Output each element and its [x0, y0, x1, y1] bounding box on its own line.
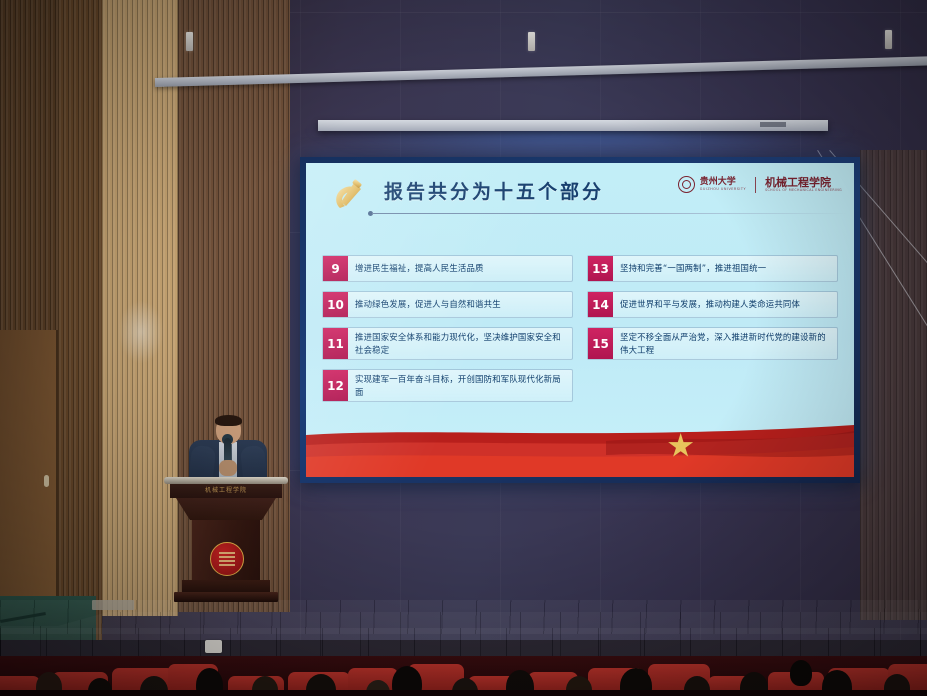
item-text: 增进民生福祉，提高人民生活品质: [348, 256, 572, 281]
podium-edge: [164, 477, 288, 484]
party-hammer-sickle-emblem: [330, 177, 370, 213]
item-text: 坚持和完善“一国两制”，推进祖国统一: [613, 256, 837, 281]
presentation-slide: 报告共分为十五个部分 贵州大学 GUIZHOU UNIVERSITY 机械工程学…: [306, 163, 854, 477]
wall-mounted-fixture: [528, 32, 535, 51]
floor-equipment: [92, 600, 134, 610]
projection-screen: 报告共分为十五个部分 贵州大学 GUIZHOU UNIVERSITY 机械工程学…: [300, 157, 860, 483]
audience-head: [790, 660, 812, 686]
item-number-badge: 15: [588, 328, 613, 359]
wood-slat-wall: [860, 150, 927, 620]
slide-item: 11推进国家安全体系和能力现代化，坚决维护国家安全和社会稳定: [322, 327, 573, 360]
wall-mounted-fixture: [885, 30, 892, 49]
item-text: 推动绿色发展，促进人与自然和谐共生: [348, 292, 572, 317]
university-name-en: GUIZHOU UNIVERSITY: [700, 187, 746, 191]
item-number-badge: 10: [323, 292, 348, 317]
red-ribbon-banner: [306, 411, 854, 477]
podium-red-seal-icon: [210, 542, 244, 576]
valance-label: [760, 122, 786, 127]
podium-name-plate: 机械工程学院: [184, 484, 268, 494]
slide-item: 14促进世界和平与发展，推动构建人类命运共同体: [587, 291, 838, 318]
university-seal-icon: [678, 176, 695, 193]
item-number-badge: 12: [323, 370, 348, 401]
podium: 机械工程学院: [170, 482, 282, 604]
slide-item: 9增进民生福祉，提高人民生活品质: [322, 255, 573, 282]
item-text: 实现建军一百年奋斗目标，开创国防和军队现代化新局面: [348, 370, 572, 401]
item-number-badge: 9: [323, 256, 348, 281]
podium-plinth: [174, 592, 278, 602]
slide-content: 9增进民生福祉，提高人民生活品质10推动绿色发展，促进人与自然和谐共生11推进国…: [306, 255, 854, 402]
university-name-cn: 贵州大学: [700, 178, 746, 187]
podium-body: [176, 498, 276, 520]
item-text: 推进国家安全体系和能力现代化，坚决维护国家安全和社会稳定: [348, 328, 572, 359]
door-handle-icon[interactable]: [44, 475, 49, 487]
item-number-badge: 11: [323, 328, 348, 359]
auditorium-photo: 报告共分为十五个部分 贵州大学 GUIZHOU UNIVERSITY 机械工程学…: [0, 0, 927, 696]
foreground-shadow: [0, 690, 927, 696]
wall-scuff-mark: [118, 300, 164, 364]
item-number-badge: 14: [588, 292, 613, 317]
title-rule: [372, 213, 848, 214]
side-door[interactable]: [0, 330, 58, 620]
presenter-hands: [219, 460, 237, 476]
slide-item: 12实现建军一百年奋斗目标，开创国防和军队现代化新局面: [322, 369, 573, 402]
college-name-en: SCHOOL OF MECHANICAL ENGINEERING: [765, 188, 842, 192]
slide-item: 15坚定不移全面从严治党，深入推进新时代党的建设新的伟大工程: [587, 327, 838, 360]
college-name-cn: 机械工程学院: [765, 177, 842, 189]
wall-mounted-fixture: [186, 32, 193, 51]
item-text: 促进世界和平与发展，推动构建人类命运共同体: [613, 292, 837, 317]
screen-valance-bar: [318, 120, 828, 131]
right-item-column: 13坚持和完善“一国两制”，推进祖国统一14促进世界和平与发展，推动构建人类命运…: [587, 255, 838, 402]
wood-slat-wall: [58, 0, 102, 640]
slide-title: 报告共分为十五个部分: [384, 177, 604, 204]
item-text: 坚定不移全面从严治党，深入推进新时代党的建设新的伟大工程: [613, 328, 837, 359]
presenter-hair: [215, 415, 242, 426]
university-logo: 贵州大学 GUIZHOU UNIVERSITY 机械工程学院 SCHOOL OF…: [678, 176, 842, 193]
item-number-badge: 13: [588, 256, 613, 281]
slide-item: 10推动绿色发展，促进人与自然和谐共生: [322, 291, 573, 318]
left-item-column: 9增进民生福祉，提高人民生活品质10推动绿色发展，促进人与自然和谐共生11推进国…: [322, 255, 573, 402]
logo-divider: [755, 177, 756, 193]
slide-item: 13坚持和完善“一国两制”，推进祖国统一: [587, 255, 838, 282]
